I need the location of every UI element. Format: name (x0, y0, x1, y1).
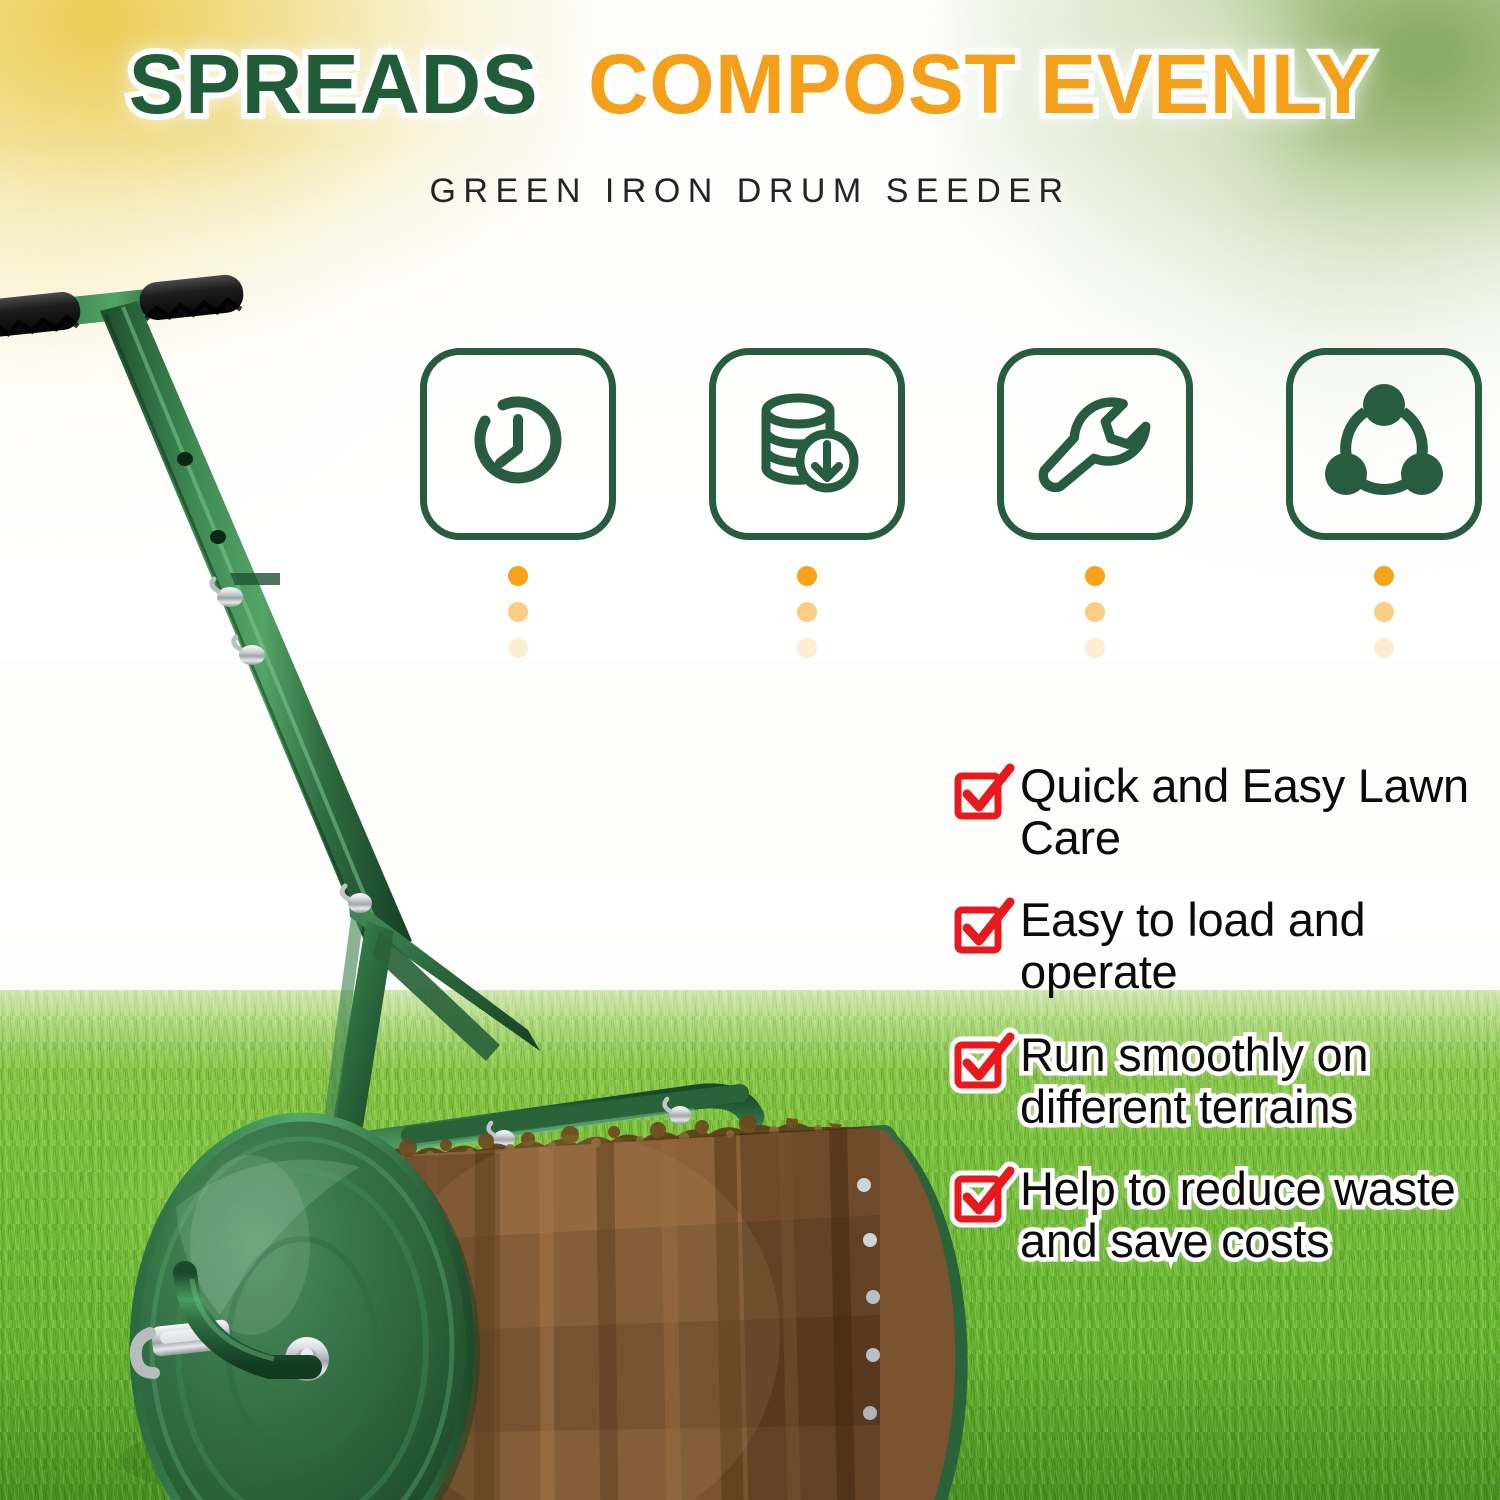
checkbox-icon-3 (952, 1035, 1002, 1085)
benefit-item-2: Easy to load and operate (952, 894, 1488, 998)
benefit-text-1: Quick and Easy Lawn Care (1020, 760, 1488, 864)
dot-2 (1085, 602, 1105, 622)
t-handle-grip-right (138, 273, 245, 322)
shaft-highlight (123, 307, 384, 943)
wrench-icon (1030, 379, 1160, 509)
check-square-icon (946, 1157, 1020, 1231)
benefit-item-4: Help to reduce waste and save costs (952, 1163, 1488, 1267)
headline-part-two: COMPOST EVENLY (588, 40, 1371, 128)
dot-3 (1374, 638, 1394, 658)
headline: SPREADS COMPOST EVENLY (0, 40, 1500, 128)
feature-card-3[interactable] (997, 348, 1193, 540)
share-network-icon (1319, 379, 1449, 509)
benefit-text-2: Easy to load and operate (1020, 894, 1488, 998)
benefit-list: Quick and Easy Lawn Care Easy to load an… (952, 760, 1488, 1267)
dot-1 (1085, 566, 1105, 586)
check-square-icon (946, 888, 1020, 962)
dot-3 (1085, 638, 1105, 658)
benefit-item-3: Run smoothly on different terrains (952, 1029, 1488, 1133)
benefit-item-1: Quick and Easy Lawn Care (952, 760, 1488, 864)
check-square-icon (946, 754, 1020, 828)
feature-card-4[interactable] (1286, 348, 1482, 540)
t-handle-grip-left (0, 290, 82, 338)
checkbox-icon-4 (952, 1169, 1002, 1219)
checkbox-icon-1 (952, 766, 1002, 816)
product-image (0, 255, 990, 1500)
dot-trail-4 (1374, 566, 1394, 658)
poster-canvas: SPREADS COMPOST EVENLY GREEN IRON DRUM S… (0, 0, 1500, 1500)
benefit-text-4: Help to reduce waste and save costs (1020, 1163, 1488, 1267)
dot-1 (1374, 566, 1394, 586)
dot-2 (1374, 602, 1394, 622)
lawn-roller-illustration (0, 255, 990, 1500)
subheadline: GREEN IRON DRUM SEEDER (0, 172, 1500, 211)
shaft-hole-1 (177, 452, 193, 466)
check-square-icon (946, 1023, 1020, 1097)
a-frame-brace (324, 886, 540, 1133)
checkbox-icon-2 (952, 900, 1002, 950)
feature-icon-cell-4[interactable] (1284, 348, 1484, 658)
telescoping-shaft (100, 301, 412, 955)
shaft-hole-2 (210, 530, 226, 544)
feature-icon-cell-3[interactable] (995, 348, 1195, 658)
dot-trail-3 (1085, 566, 1105, 658)
headline-part-one: SPREADS (129, 40, 539, 128)
benefit-text-3: Run smoothly on different terrains (1020, 1029, 1488, 1133)
